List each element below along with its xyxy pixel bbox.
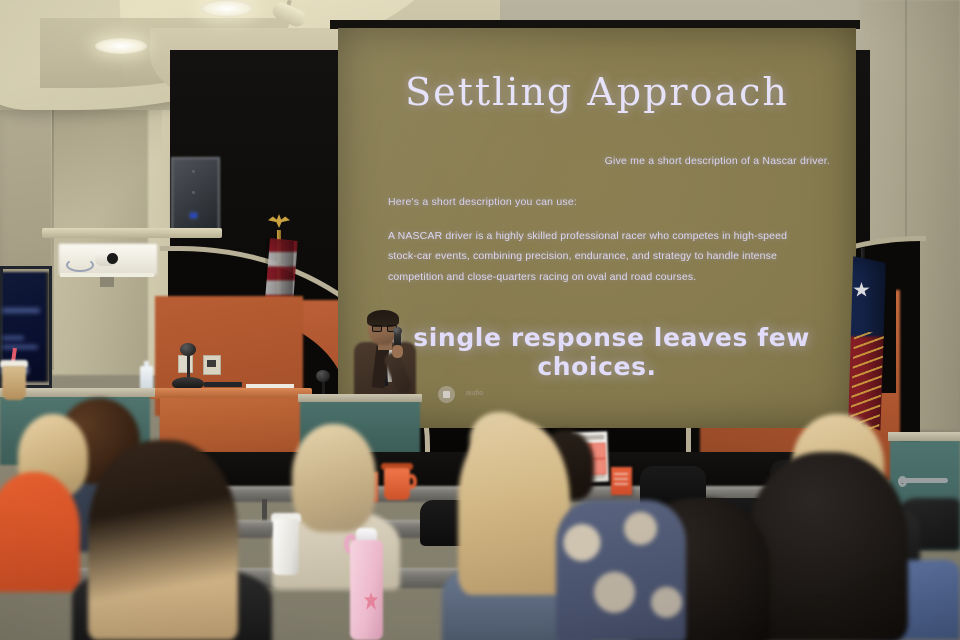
table-tent-card-orange[interactable] [611, 467, 632, 495]
monitor-text-line [2, 336, 24, 340]
audience-head [292, 424, 376, 532]
slide-user-prompt: Give me a short description of a Nascar … [605, 155, 830, 167]
media-play-icon [438, 386, 455, 403]
audience-torso [0, 472, 80, 592]
wall-speaker [171, 157, 220, 233]
monitor-text-line [2, 345, 38, 349]
speaker-power-led [190, 213, 197, 218]
slide-title: Settling Approach [338, 70, 856, 114]
wall-outlet-plate [178, 355, 193, 373]
camera-lens-icon [95, 252, 117, 266]
speaker-driver-icon [192, 191, 195, 194]
pink-water-bottle[interactable] [350, 540, 383, 640]
railing-cap-right [888, 432, 960, 441]
audience-head [458, 420, 570, 595]
podium-device [204, 382, 242, 387]
ceiling-downlight-icon [95, 38, 147, 54]
lecture-hall-photo: Settling Approach Give me a short descri… [0, 0, 960, 640]
orange-tumbler[interactable] [384, 468, 410, 500]
floor-microphone-icon [316, 370, 330, 382]
speaker-driver-icon [192, 170, 195, 173]
white-tumbler[interactable] [273, 519, 299, 575]
railing-cap-center [298, 394, 422, 402]
iced-coffee-cup[interactable] [2, 366, 26, 400]
wall-ledge [42, 228, 222, 238]
wall-control-panel [203, 355, 221, 375]
monitor-text-line [2, 308, 40, 313]
audience-head [748, 452, 908, 640]
slide-response-body: A NASCAR driver is a highly skilled prof… [388, 226, 818, 287]
audience-head [88, 440, 238, 640]
ceiling-downlight-icon [200, 0, 254, 17]
slide-response-intro: Here's a short description you can use: [388, 196, 577, 208]
door-handle-icon[interactable] [898, 478, 948, 483]
camera-mount [100, 277, 114, 287]
cable-coil-icon [66, 258, 94, 272]
podium-microphone-icon [180, 343, 196, 356]
hand-sanitizer-bottle [140, 366, 153, 390]
media-label: audio [466, 390, 483, 397]
presenter-hand [392, 345, 403, 358]
audience-head [556, 500, 686, 640]
